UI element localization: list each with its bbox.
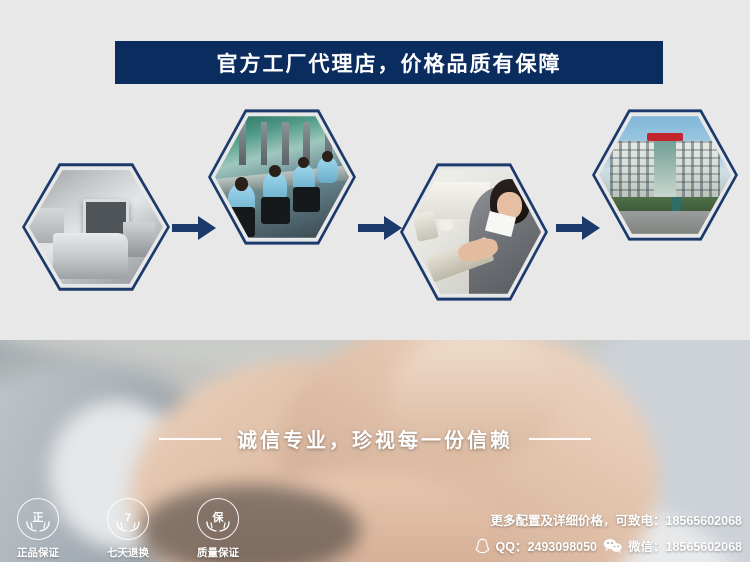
tagline-rule-right bbox=[529, 438, 591, 440]
hex-photo-clip bbox=[215, 115, 349, 239]
hex-gap bbox=[25, 165, 167, 289]
hex-photo-clip bbox=[407, 169, 541, 295]
process-flow bbox=[0, 100, 750, 315]
im-line: QQ：2493098050 微信：18565602068 bbox=[475, 536, 742, 555]
qq-label: QQ：2493098050 bbox=[496, 536, 597, 555]
building-photo bbox=[599, 115, 731, 235]
qq-penguin-icon[interactable] bbox=[475, 538, 490, 554]
flow-step-office-staff bbox=[400, 162, 548, 302]
header-banner: 官方工厂代理店，价格品质有保障 bbox=[115, 41, 663, 84]
guarantee-badges: 正 正品保证 7 bbox=[8, 498, 248, 560]
hands-shape bbox=[115, 521, 141, 532]
tagline: 诚信专业，珍视每一份信赖 bbox=[0, 424, 750, 453]
hex-gap bbox=[403, 165, 545, 299]
hands-holding-icon: 正 bbox=[17, 498, 59, 540]
tagline-text: 诚信专业，珍视每一份信赖 bbox=[237, 424, 513, 453]
badge-label: 七天退换 bbox=[107, 545, 149, 560]
hands-holding-icon: 保 bbox=[197, 498, 239, 540]
hex-border bbox=[208, 108, 356, 246]
hands-holding-icon: 7 bbox=[107, 498, 149, 540]
flow-arrow-2 bbox=[358, 216, 402, 240]
hex-photo-clip bbox=[599, 115, 731, 235]
contact-info: 更多配置及详细价格，可致电：18565602068 QQ：2493098050 … bbox=[475, 510, 742, 555]
handshake-section: 诚信专业，珍视每一份信赖 正 正品保证 7 bbox=[0, 340, 750, 562]
tagline-rule-left bbox=[159, 438, 221, 440]
wechat-icon[interactable] bbox=[603, 538, 622, 553]
promo-banner-page: 官方工厂代理店，价格品质有保障 bbox=[0, 0, 750, 576]
phone-line: 更多配置及详细价格，可致电：18565602068 bbox=[491, 510, 742, 529]
hands-shape bbox=[205, 521, 231, 532]
badge-label: 正品保证 bbox=[17, 545, 59, 560]
top-section: 官方工厂代理店，价格品质有保障 bbox=[0, 0, 750, 340]
hex-border bbox=[592, 108, 738, 242]
flow-step-company-building bbox=[592, 108, 738, 242]
hex-gap bbox=[211, 111, 353, 243]
flow-step-equipment-machine bbox=[22, 162, 170, 292]
factory-photo bbox=[215, 115, 349, 239]
hex-photo-clip bbox=[29, 169, 163, 285]
hands-shape bbox=[25, 521, 51, 532]
machine-photo bbox=[29, 169, 163, 285]
arrow-right-icon bbox=[358, 216, 402, 240]
badge-authentic: 正 正品保证 bbox=[8, 498, 68, 560]
wechat-label: 微信：18565602068 bbox=[628, 536, 742, 555]
badge-label: 质量保证 bbox=[197, 545, 239, 560]
badge-quality-guarantee: 保 质量保证 bbox=[188, 498, 248, 560]
hex-gap bbox=[595, 111, 735, 239]
page-title: 官方工厂代理店，价格品质有保障 bbox=[217, 48, 562, 78]
hex-border bbox=[22, 162, 170, 292]
hex-border bbox=[400, 162, 548, 302]
flow-step-factory-assembly-line bbox=[208, 108, 356, 246]
office-photo bbox=[407, 169, 541, 295]
badge-seven-day-return: 7 七天退换 bbox=[98, 498, 158, 560]
